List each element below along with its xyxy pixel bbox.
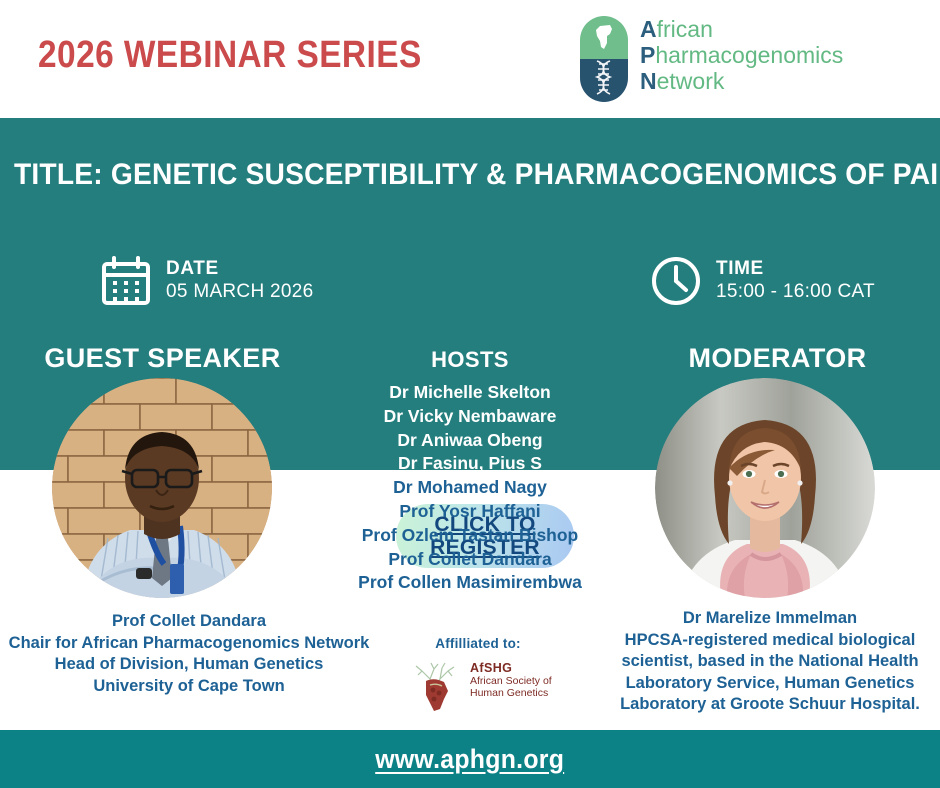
afshg-fullname-line1: African Society of: [470, 675, 552, 687]
time-value: 15:00 - 16:00 CAT: [716, 280, 875, 304]
host-name: Dr Mohamed Nagy: [330, 476, 610, 500]
logo-cap-p: P: [640, 42, 655, 68]
moderator-caption-line: HPCSA-registered medical biological: [600, 630, 940, 652]
host-name: Dr Aniwaa Obeng: [330, 429, 610, 453]
moderator-heading: MODERATOR: [615, 343, 940, 374]
host-name: Prof Collet Dandara: [330, 548, 610, 572]
webinar-poster: 2026 WEBINAR SERIES: [0, 0, 940, 788]
date-label: DATE: [166, 258, 314, 280]
host-name: Prof Ozlem Tastan Bishop: [330, 524, 610, 548]
apn-capsule-icon: [580, 16, 628, 102]
calendar-icon: [100, 255, 152, 307]
logo-rest-pharmacogenomics: harmacogenomics: [655, 42, 843, 68]
guest-speaker-caption-line: Head of Division, Human Genetics: [0, 654, 378, 676]
logo-rest-network: etwork: [657, 68, 725, 94]
apn-logo: African Pharmacogenomics Network: [580, 12, 848, 107]
affiliation-label: Affilliated to:: [398, 636, 558, 651]
moderator-caption-line: scientist, based in the National Health: [600, 651, 940, 673]
affiliation-block: Affilliated to: AfSHG African Society of…: [398, 636, 558, 713]
guest-speaker-caption-line: University of Cape Town: [0, 676, 378, 698]
footer-band: www.aphgn.org: [0, 730, 940, 788]
logo-cap-n: N: [640, 68, 657, 94]
webinar-title: TITLE: GENETIC SUSCEPTIBILITY & PHARMACO…: [14, 158, 874, 192]
afshg-fullname-line2: Human Genetics: [470, 687, 552, 699]
host-name: Dr Fasinu, Pius S: [330, 452, 610, 476]
host-name: Dr Vicky Nembaware: [330, 405, 610, 429]
date-block: DATE 05 MARCH 2026: [100, 255, 314, 307]
afshg-africa-tree-icon: [400, 659, 470, 713]
logo-rest-african: frican: [657, 16, 713, 42]
guest-speaker-caption-line: Prof Collet Dandara: [0, 611, 378, 633]
afshg-logo-text: AfSHG African Society of Human Genetics: [470, 661, 552, 699]
host-name: Dr Michelle Skelton: [330, 381, 610, 405]
time-text: TIME 15:00 - 16:00 CAT: [716, 258, 875, 304]
moderator-caption-line: Laboratory Service, Human Genetics: [600, 673, 940, 695]
host-name: Prof Yosr Haffani: [330, 500, 610, 524]
moderator-caption: Dr Marelize ImmelmanHPCSA-registered med…: [600, 608, 940, 716]
logo-line-pharmacogenomics: Pharmacogenomics: [640, 42, 850, 68]
clock-icon: [650, 255, 702, 307]
guest-speaker-photo: [52, 378, 272, 598]
logo-line-network: Network: [640, 68, 850, 94]
website-link[interactable]: www.aphgn.org: [376, 744, 565, 775]
time-label: TIME: [716, 258, 875, 280]
date-value: 05 MARCH 2026: [166, 280, 314, 304]
series-title: 2026 WEBINAR SERIES: [38, 34, 422, 77]
guest-speaker-caption-line: Chair for African Pharmacogenomics Netwo…: [0, 633, 378, 655]
info-row: DATE 05 MARCH 2026 CLICK TO REGISTER TIM…: [0, 250, 940, 330]
time-block: TIME 15:00 - 16:00 CAT: [650, 255, 875, 307]
guest-speaker-caption: Prof Collet DandaraChair for African Pha…: [0, 611, 378, 697]
logo-line-african: African: [640, 16, 850, 42]
guest-speaker-heading: GUEST SPEAKER: [0, 343, 325, 374]
hosts-list: Dr Michelle SkeltonDr Vicky NembawareDr …: [330, 381, 610, 595]
moderator-portrait-illustration: [655, 378, 875, 598]
moderator-photo: [655, 378, 875, 598]
moderator-caption-line: Dr Marelize Immelman: [600, 608, 940, 630]
afshg-logo: AfSHG African Society of Human Genetics: [398, 659, 558, 713]
apn-logo-text: African Pharmacogenomics Network: [640, 16, 850, 94]
guest-speaker-portrait-illustration: [52, 378, 272, 598]
date-text: DATE 05 MARCH 2026: [166, 258, 314, 304]
moderator-caption-line: Laboratory at Groote Schuur Hospital.: [600, 694, 940, 716]
afshg-acronym: AfSHG: [470, 661, 552, 675]
logo-cap-a: A: [640, 16, 657, 42]
poster-header: 2026 WEBINAR SERIES: [0, 0, 940, 118]
hosts-heading: HOSTS: [330, 347, 610, 373]
host-name: Prof Collen Masimirembwa: [330, 571, 610, 595]
